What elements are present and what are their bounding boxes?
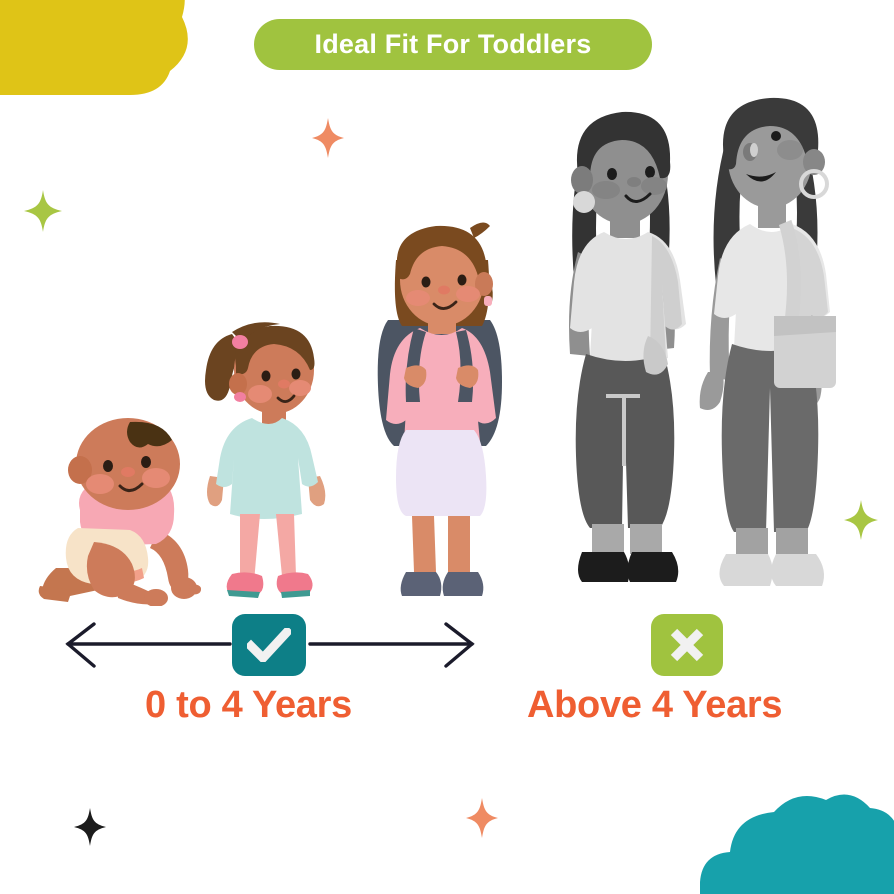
title-badge: Ideal Fit For Toddlers xyxy=(254,19,652,70)
cloud-top-left-icon xyxy=(0,0,190,95)
cloud-bottom-right-icon xyxy=(700,790,894,894)
approved-age-label: 0 to 4 Years xyxy=(145,684,352,727)
sparkle-bottom-left-icon xyxy=(74,808,106,846)
sparkle-left-icon xyxy=(24,190,62,232)
approved-badge[interactable] xyxy=(232,614,306,676)
figure-toddler-girl xyxy=(196,318,346,606)
rejected-badge[interactable] xyxy=(651,614,723,676)
page-title: Ideal Fit For Toddlers xyxy=(315,29,592,60)
rejected-age-label: Above 4 Years xyxy=(527,684,782,727)
figure-adult-woman-grayscale xyxy=(692,88,852,608)
figure-teen-grayscale xyxy=(548,96,708,606)
sparkle-top-center-icon xyxy=(312,118,344,158)
figure-crawling-baby xyxy=(38,418,203,606)
cross-icon xyxy=(669,627,705,663)
check-icon xyxy=(247,628,291,662)
figure-school-girl-with-backpack xyxy=(358,216,523,606)
infographic-canvas: Ideal Fit For Toddlers xyxy=(0,0,894,894)
sparkle-bottom-center-icon xyxy=(466,798,498,838)
